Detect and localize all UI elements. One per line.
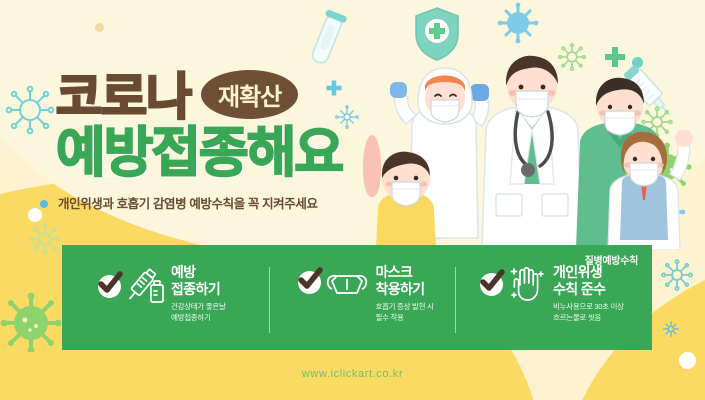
test-tube-icon: [305, 8, 349, 70]
dot-icon: [28, 208, 42, 222]
status-badge: 재확산: [201, 70, 298, 119]
dot-icon: [679, 352, 696, 369]
dot-icon: [95, 23, 104, 32]
face-mask-icon: [326, 269, 368, 299]
subtitle-text: 개인위생과 호흡기 감염병 예방수칙을 꼭 지켜주세요: [58, 193, 318, 212]
prevention-item-vaccination: 예방 접종하기 건강상태가 좋은날 예방접종하기: [62, 263, 269, 324]
headline-line-1: 코로나 재확산: [56, 72, 416, 122]
virus-icon: [2, 82, 58, 138]
item-icons: [478, 263, 546, 303]
website-url[interactable]: www.iclickart.co.kr: [0, 368, 705, 380]
illustration-group: [372, 48, 705, 248]
item-text: 예방 접종하기 건강상태가 좋은날 예방접종하기: [171, 263, 226, 324]
check-icon: [96, 271, 124, 299]
check-icon: [296, 267, 324, 295]
item-title: 개인위생 수칙 준수: [553, 264, 624, 298]
item-text: 마스크 착용하기 호흡기 증상 발현 시 필수 착용: [375, 263, 433, 324]
syringe-vial-icon: [126, 263, 164, 307]
prevention-item-hygiene: 개인위생 수칙 준수 비누사용으로 30초 이상 흐르는물로 씻음: [456, 263, 652, 324]
virus-icon: [0, 290, 62, 352]
item-title: 예방 접종하기: [171, 264, 226, 298]
item-icons: [96, 263, 164, 307]
character-student-girl: [594, 130, 702, 250]
check-icon: [478, 269, 506, 297]
virus-icon: [28, 222, 62, 256]
prevention-banner: 질병예방수칙: [62, 245, 652, 350]
poster-root: 코로나 재확산 예방접종해요 개인위생과 호흡기 감염병 예방수칙을 꼭 지켜주…: [0, 0, 705, 400]
item-text: 개인위생 수칙 준수 비누사용으로 30초 이상 흐르는물로 씻음: [553, 263, 624, 324]
item-description: 호흡기 증상 발현 시 필수 착용: [375, 302, 433, 324]
item-title: 마스크 착용하기: [375, 264, 433, 298]
item-description: 건강상태가 좋은날 예방접종하기: [171, 302, 226, 324]
virus-icon: [660, 318, 682, 340]
dot-icon: [40, 200, 48, 208]
virus-icon: [660, 258, 694, 292]
item-icons: [296, 263, 368, 299]
item-description: 비누사용으로 30초 이상 흐르는물로 씻음: [553, 302, 624, 324]
prevention-items: 예방 접종하기 건강상태가 좋은날 예방접종하기: [62, 263, 652, 333]
clean-hand-icon: [508, 263, 546, 303]
headline-block: 코로나 재확산 예방접종해요: [56, 72, 416, 183]
headline-line-2: 예방접종해요: [56, 124, 416, 183]
headline-word-corona: 코로나: [56, 72, 191, 122]
prevention-item-mask: 마스크 착용하기 호흡기 증상 발현 시 필수 착용: [270, 263, 454, 324]
virus-icon: [497, 2, 539, 44]
